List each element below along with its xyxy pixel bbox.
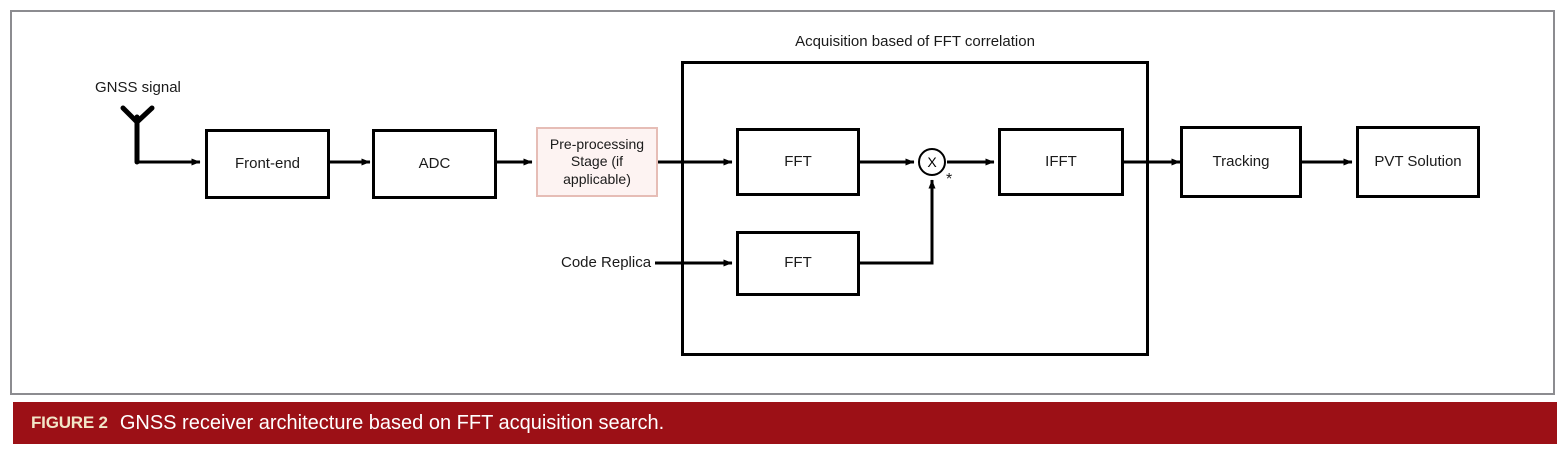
block-tracking-label: Tracking xyxy=(1213,153,1270,172)
block-fft-signal[interactable]: FFT xyxy=(736,128,860,196)
block-tracking[interactable]: Tracking xyxy=(1180,126,1302,198)
block-ifft-label: IFFT xyxy=(1045,153,1077,172)
block-fft-signal-label: FFT xyxy=(784,153,812,172)
block-pre-processing[interactable]: Pre-processing Stage (if applicable) xyxy=(536,127,658,197)
block-pre-processing-line-3: applicable) xyxy=(563,171,631,189)
figure-caption-text: GNSS receiver architecture based on FFT … xyxy=(120,412,664,435)
block-ifft[interactable]: IFFT xyxy=(998,128,1124,196)
figure-container: Acquisition based of FFT correlation GNS… xyxy=(0,0,1568,460)
figure-number-label: FIGURE 2 xyxy=(31,413,108,433)
block-front-end[interactable]: Front-end xyxy=(205,129,330,199)
block-pvt-solution-label: PVT Solution xyxy=(1374,153,1461,172)
block-fft-code-label: FFT xyxy=(784,254,812,273)
code-replica-label: Code Replica xyxy=(561,254,651,271)
conjugate-asterisk: * xyxy=(946,172,952,188)
block-pre-processing-line-2: Stage (if xyxy=(571,153,623,171)
multiplier-node[interactable]: X xyxy=(918,148,946,176)
acquisition-group-title: Acquisition based of FFT correlation xyxy=(681,33,1149,50)
block-pvt-solution[interactable]: PVT Solution xyxy=(1356,126,1480,198)
gnss-signal-label: GNSS signal xyxy=(95,79,181,96)
antenna-icon xyxy=(123,108,152,162)
block-adc[interactable]: ADC xyxy=(372,129,497,199)
block-front-end-label: Front-end xyxy=(235,155,300,174)
figure-caption-bar: FIGURE 2 GNSS receiver architecture base… xyxy=(13,402,1557,444)
acquisition-group-box xyxy=(681,61,1149,356)
diagram-canvas: Acquisition based of FFT correlation GNS… xyxy=(0,0,1568,400)
block-pre-processing-line-1: Pre-processing xyxy=(550,136,644,154)
block-adc-label: ADC xyxy=(419,155,451,174)
block-fft-code[interactable]: FFT xyxy=(736,231,860,296)
multiplier-symbol: X xyxy=(927,154,936,170)
